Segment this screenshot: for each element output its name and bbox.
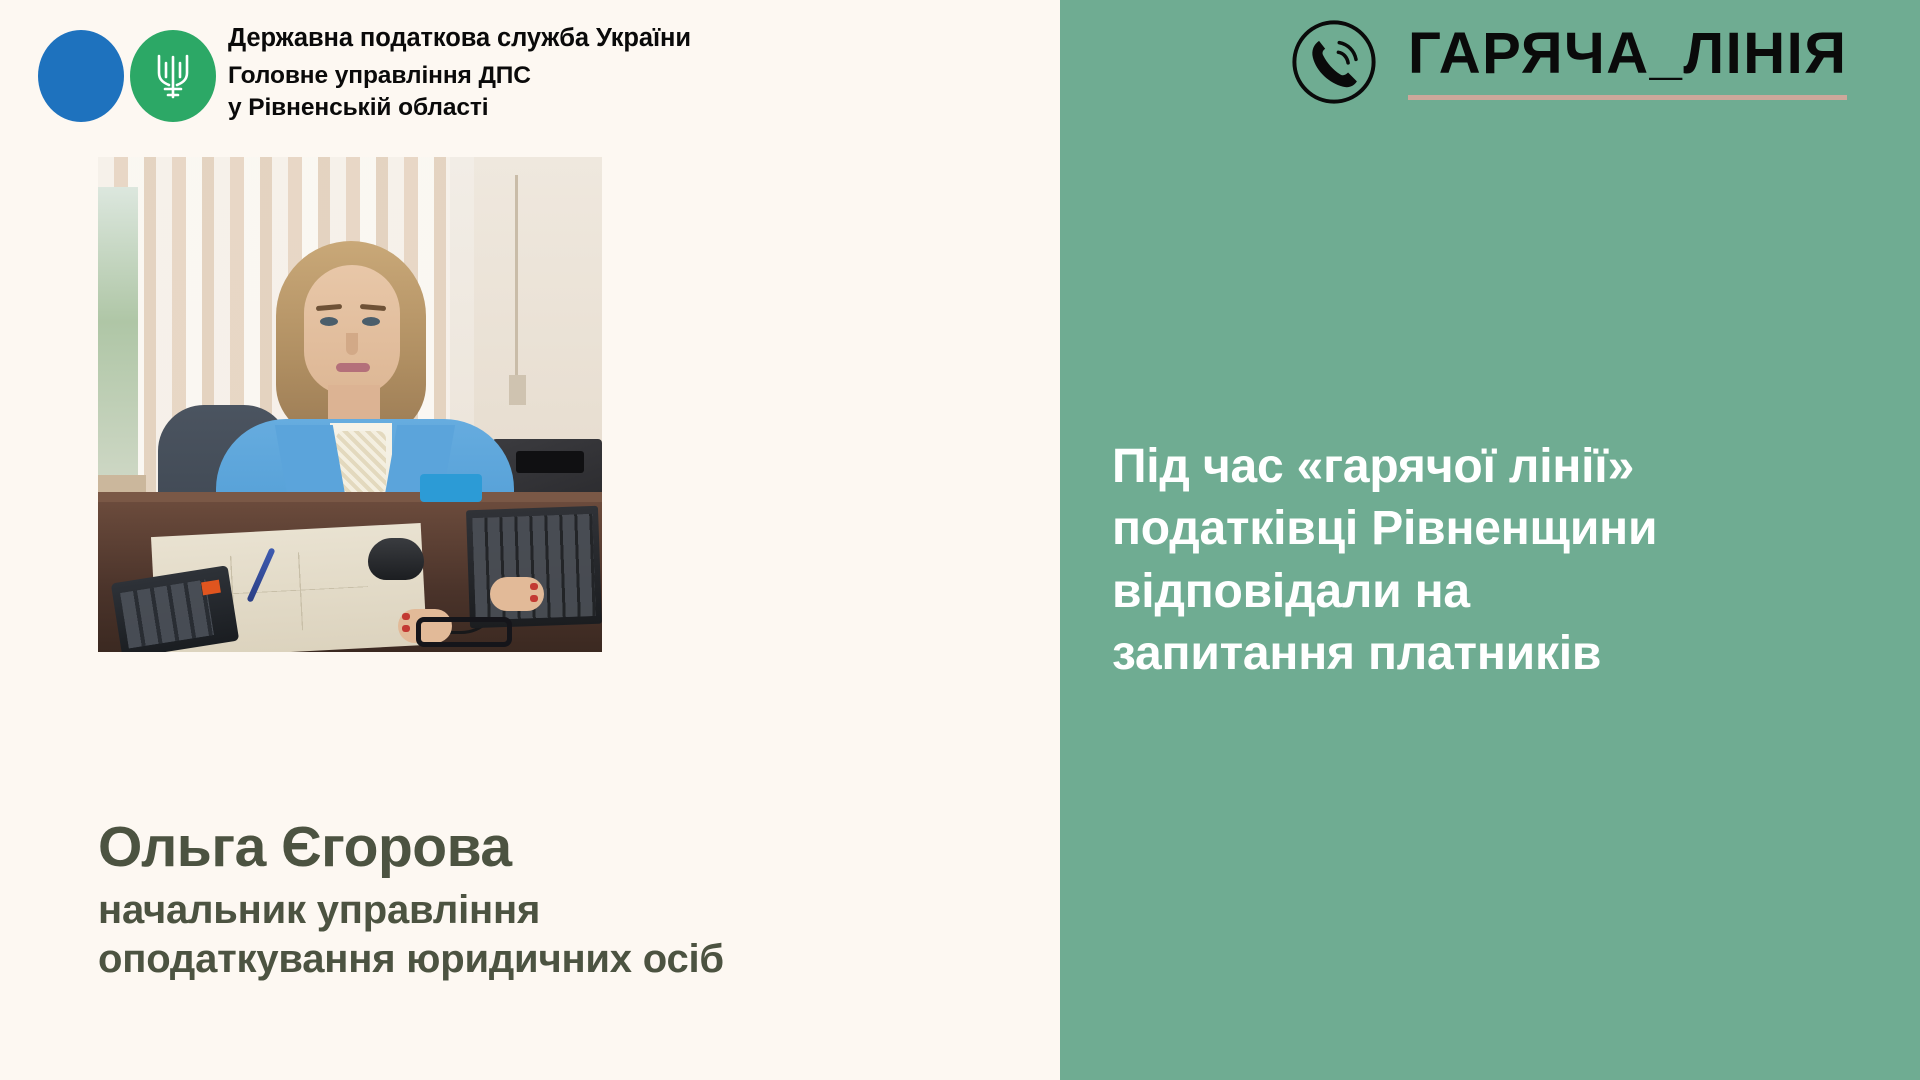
organisation-brand-header: Державна податкова служба України Головн… <box>38 22 691 124</box>
person-hand-right <box>490 577 544 611</box>
brand-line-2: Головне управління ДПС <box>228 60 691 92</box>
printer-paper-slot <box>516 451 584 473</box>
phone-ringing-icon <box>1290 18 1378 106</box>
hotline-title-block: ГАРЯЧА_ЛІНІЯ <box>1408 25 1847 100</box>
brand-line-3: у Рівненській області <box>228 92 691 124</box>
person-face <box>304 265 400 395</box>
blue-circle-icon <box>38 30 124 122</box>
fingernail <box>530 583 538 590</box>
headline-line-3: відповідали на <box>1112 561 1852 623</box>
hotline-title: ГАРЯЧА_ЛІНІЯ <box>1408 25 1847 83</box>
calculator-red-key <box>201 580 221 596</box>
desk-edge <box>98 492 602 502</box>
person-role-line-1: начальник управління <box>98 886 998 935</box>
ukraine-trident-icon <box>150 49 196 104</box>
fingernail <box>402 613 410 620</box>
headline-line-2: податківці Рівненщини <box>1112 498 1852 560</box>
desk-phone <box>420 474 482 502</box>
brand-line-1: Державна податкова служба України <box>228 22 691 55</box>
person-eye-right <box>362 317 380 326</box>
blind-cord-weight <box>509 375 526 405</box>
photo-caption: Ольга Єгорова начальник управління опода… <box>98 818 998 983</box>
headline-text: Під час «гарячої лінії» податківці Рівне… <box>1112 436 1852 686</box>
person-mouth <box>336 363 370 372</box>
computer-mouse <box>368 538 424 580</box>
fingernail <box>402 625 410 632</box>
person-role-line-2: оподаткування юридичних осіб <box>98 935 998 984</box>
headline-line-1: Під час «гарячої лінії» <box>1112 436 1852 498</box>
headline-line-4: запитання платників <box>1112 623 1852 685</box>
blind-cord <box>515 175 518 385</box>
hotline-underline-rule <box>1408 95 1847 100</box>
person-nose <box>346 333 358 355</box>
blouse-lace-detail <box>336 431 386 493</box>
window-foliage <box>98 187 138 487</box>
fingernail <box>530 595 538 602</box>
person-eye-left <box>320 317 338 326</box>
poster-canvas: Державна податкова служба України Головн… <box>0 0 1920 1080</box>
person-name: Ольга Єгорова <box>98 818 998 878</box>
organisation-name-block: Державна податкова служба України Головн… <box>228 22 691 124</box>
portrait-photo-scene <box>98 157 602 652</box>
eyeglasses <box>416 617 512 647</box>
dps-logo <box>38 27 198 119</box>
hotline-header: ГАРЯЧА_ЛІНІЯ <box>1290 18 1847 106</box>
portrait-photo <box>98 157 602 652</box>
